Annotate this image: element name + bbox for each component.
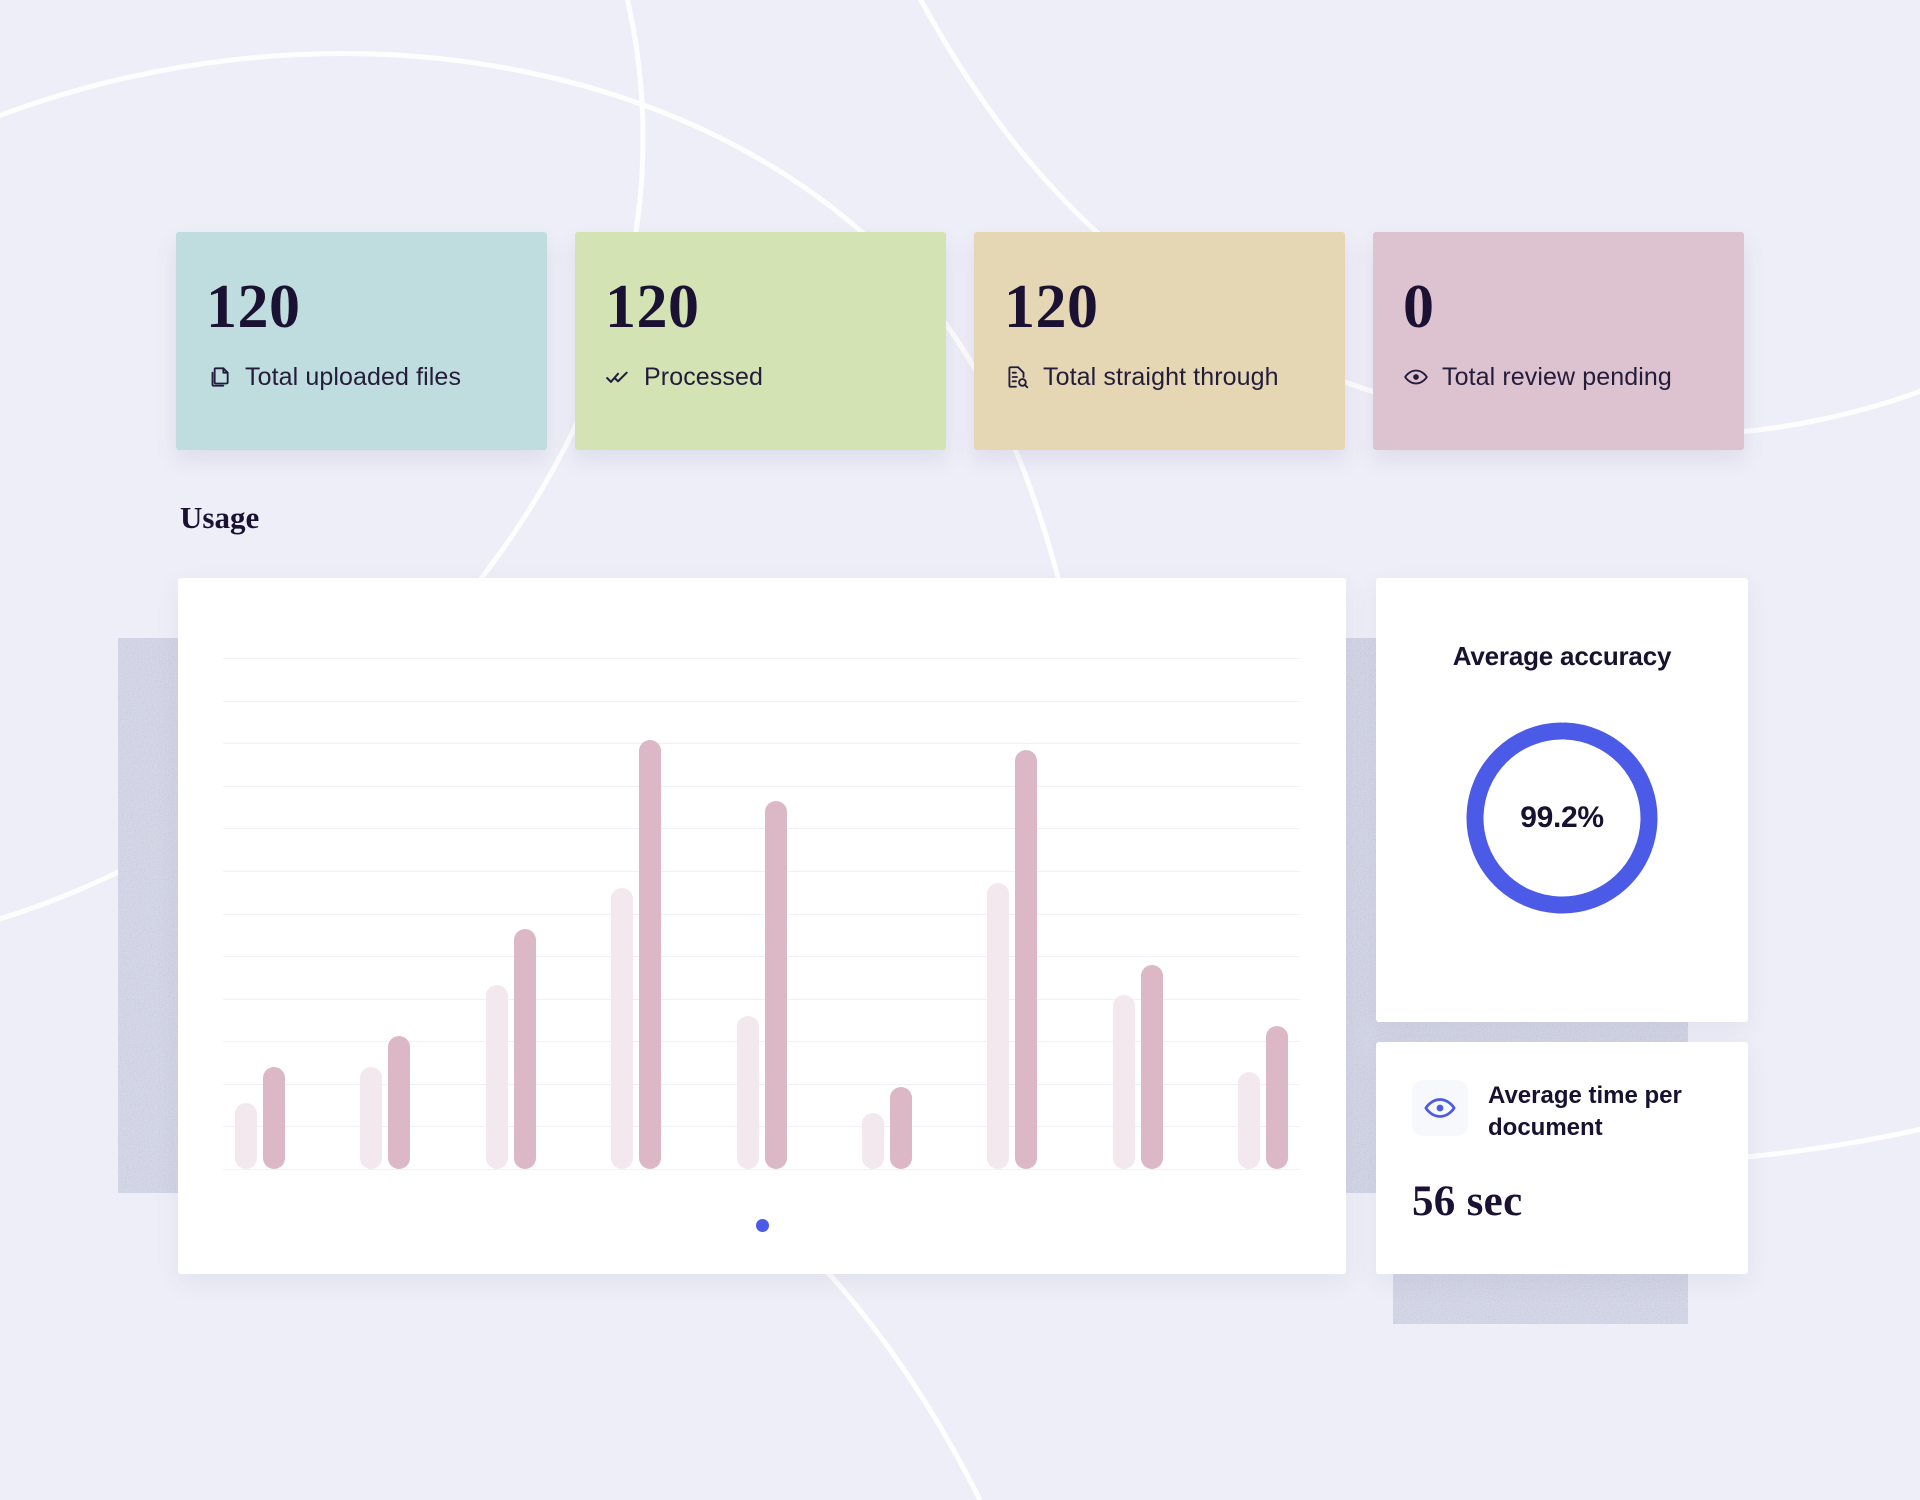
stat-label: Total review pending <box>1442 363 1672 392</box>
stat-label: Total straight through <box>1043 363 1279 392</box>
chart-bar-group <box>862 658 912 1169</box>
chart-bar-light <box>611 888 633 1169</box>
chart-bar-light <box>1113 995 1135 1169</box>
chart-bar-group <box>360 658 410 1169</box>
chart-bar-group <box>611 658 661 1169</box>
stat-card-total-review-pending[interactable]: 0 Total review pending <box>1373 232 1744 450</box>
accuracy-value: 99.2% <box>1459 715 1665 921</box>
dashboard-page: 120 Total uploaded files 120 Processed <box>0 0 1920 1500</box>
stat-value: 120 <box>605 278 916 337</box>
chart-bar-dark <box>890 1087 912 1169</box>
stat-label-row: Total straight through <box>1004 363 1315 392</box>
chart-bar-group <box>1238 658 1288 1169</box>
chart-bar-group <box>737 658 787 1169</box>
stat-label: Processed <box>644 363 763 392</box>
chart-bar-light <box>862 1113 884 1169</box>
time-card-title: Average time per document <box>1488 1080 1703 1143</box>
stat-card-total-uploaded-files[interactable]: 120 Total uploaded files <box>176 232 547 450</box>
chart-bar-dark <box>1266 1026 1288 1169</box>
chart-bar-light <box>360 1067 382 1169</box>
average-time-card: Average time per document 56 sec <box>1376 1042 1748 1274</box>
stat-label-row: Total uploaded files <box>206 363 517 392</box>
chart-bar-group <box>486 658 536 1169</box>
chart-bar-dark <box>263 1067 285 1169</box>
stat-label-row: Total review pending <box>1403 363 1714 392</box>
chart-bar-light <box>486 985 508 1169</box>
usage-chart-panel[interactable] <box>178 578 1346 1274</box>
stat-card-total-straight-through[interactable]: 120 Total straight through <box>974 232 1345 450</box>
chart-bar-light <box>1238 1072 1260 1169</box>
time-card-header: Average time per document <box>1412 1080 1714 1143</box>
stat-label-row: Processed <box>605 363 916 392</box>
chart-pager-dot[interactable] <box>756 1219 769 1232</box>
double-check-icon <box>605 364 631 390</box>
chart-bar-dark <box>765 801 787 1169</box>
chart-bars <box>223 658 1300 1169</box>
accuracy-donut: 99.2% <box>1459 715 1665 921</box>
stat-cards-row: 120 Total uploaded files 120 Processed <box>176 232 1744 450</box>
chart-gridline <box>223 1169 1300 1170</box>
chart-bar-light <box>737 1016 759 1169</box>
stat-label: Total uploaded files <box>245 363 461 392</box>
eye-icon-badge <box>1412 1080 1468 1136</box>
stat-value: 120 <box>1004 278 1315 337</box>
page-title: Usage <box>180 500 259 536</box>
accuracy-title: Average accuracy <box>1376 641 1748 672</box>
chart-bar-light <box>235 1103 257 1169</box>
eye-icon <box>1423 1091 1457 1125</box>
eye-icon <box>1403 364 1429 390</box>
average-accuracy-card: Average accuracy 99.2% <box>1376 578 1748 1022</box>
stat-value: 0 <box>1403 278 1714 337</box>
chart-bar-dark <box>1015 750 1037 1169</box>
chart-bar-light <box>987 883 1009 1169</box>
time-card-value: 56 sec <box>1412 1177 1714 1226</box>
chart-bar-dark <box>1141 965 1163 1169</box>
copy-files-icon <box>206 364 232 390</box>
chart-bar-dark <box>388 1036 410 1169</box>
stat-card-processed[interactable]: 120 Processed <box>575 232 946 450</box>
chart-pager-dots[interactable] <box>178 1219 1346 1232</box>
chart-bar-dark <box>514 929 536 1169</box>
chart-bar-group <box>1113 658 1163 1169</box>
chart-plot-area <box>223 658 1300 1169</box>
document-search-icon <box>1004 364 1030 390</box>
chart-bar-dark <box>639 740 661 1169</box>
chart-bar-group <box>987 658 1037 1169</box>
chart-bar-group <box>235 658 285 1169</box>
stat-value: 120 <box>206 278 517 337</box>
